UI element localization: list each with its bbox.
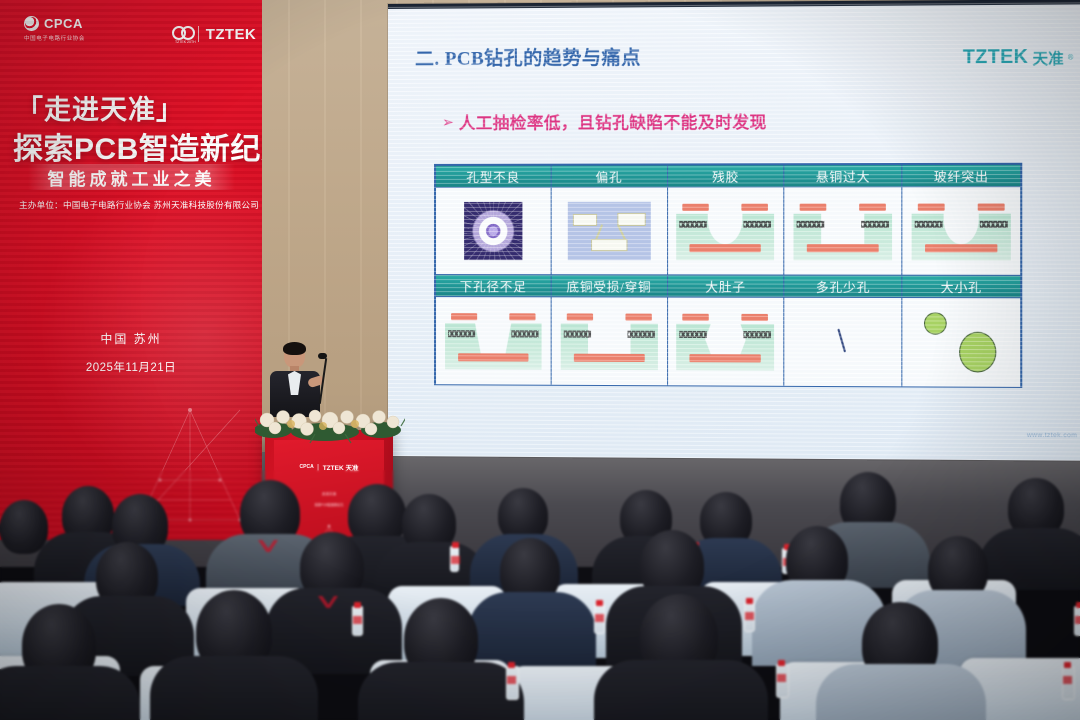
- table-row: [551, 297, 667, 385]
- xsection-damaged-base-copper-figure: [560, 312, 657, 371]
- water-bottle: [594, 604, 605, 634]
- table-header-cell: 底铜受损/穿铜: [551, 275, 667, 297]
- table-row: [902, 187, 1021, 276]
- table-figure-row-2: [436, 297, 1021, 387]
- speaker-hair: [283, 342, 306, 355]
- cpca-association-name: 中国电子电路行业协会: [24, 34, 85, 42]
- table-header-row-2: 下孔径不足 底铜受损/穿铜 大肚子 多孔少孔 大小孔: [436, 275, 1021, 298]
- table-row: [436, 297, 551, 385]
- table-row: [784, 187, 902, 275]
- xsection-residual-glue-figure: [677, 202, 775, 261]
- table-row: [551, 187, 667, 275]
- cpca-mark-icon: [24, 16, 39, 31]
- table-header-row-1: 孔型不良 偏孔 残胶 悬铜过大 玻纤突出: [436, 164, 1021, 187]
- presentation-screen: 二. PCB钻孔的趋势与痛点 TZTEK 天准 ® ➢ 人工抽检率低，且钻孔缺陷…: [388, 0, 1080, 461]
- table-figure-row-1: [436, 187, 1021, 276]
- xsection-big-belly-figure: [677, 312, 775, 371]
- audience-shoulders: [358, 662, 524, 720]
- table-row: [436, 187, 551, 274]
- water-bottle: [450, 546, 459, 572]
- table-row: [667, 187, 784, 275]
- table-header-cell: 下孔径不足: [436, 275, 551, 297]
- table-header-cell: 大肚子: [667, 275, 784, 297]
- water-bottle: [776, 664, 789, 698]
- table-header-cell: 大小孔: [902, 275, 1021, 298]
- slide-bullet-line: ➢ 人工抽检率低，且钻孔缺陷不能及时发现: [442, 109, 767, 134]
- cpca-logo: CPCA: [24, 16, 83, 31]
- backdrop-logo-row: CPCA 中国电子电路行业协会 TZTEK 20TH TZTEK 天准: [0, 8, 262, 46]
- xsection-glass-fiber-figure: [912, 201, 1011, 260]
- xsection-overhang-copper-figure: [794, 202, 893, 261]
- backdrop-city: 中国 苏州: [0, 330, 262, 347]
- table-header-cell: 孔型不良: [436, 165, 551, 187]
- slide-website-url: www.tztek.com: [1027, 432, 1077, 439]
- backdrop-headline-3-bar: 智能成就工业之美: [28, 164, 235, 190]
- defect-types-table: 孔型不良 偏孔 残胶 悬铜过大 玻纤突出: [434, 163, 1022, 388]
- table-header-cell: 残胶: [667, 165, 784, 187]
- event-backdrop-banner: CPCA 中国电子电路行业协会 TZTEK 20TH TZTEK 天准 「走进天…: [0, 0, 262, 540]
- conference-photo-scene: CPCA 中国电子电路行业协会 TZTEK 20TH TZTEK 天准 「走进天…: [0, 0, 1080, 720]
- podium-flower-arrangement: [255, 396, 405, 444]
- table-row: [902, 298, 1021, 387]
- backdrop-organizer-line: 主办单位：中国电子电路行业协会 苏州天准科技股份有限公司: [16, 199, 262, 211]
- offset-hole-layout-figure: [567, 202, 650, 260]
- backdrop-headline-1: 「走进天准」: [16, 88, 256, 127]
- cpca-logo-text: CPCA: [44, 16, 83, 31]
- audience-shoulders: [594, 660, 768, 720]
- table-row: [784, 297, 902, 386]
- audience-shoulders: [816, 664, 986, 720]
- table-header-cell: 偏孔: [551, 165, 667, 187]
- backdrop-headline-2: 探索PCB智造新纪元: [13, 124, 262, 168]
- audience-shoulders: [0, 666, 140, 720]
- tztek-wordmark: TZTEK: [206, 26, 256, 43]
- table-header-cell: 多孔少孔: [784, 275, 902, 297]
- slide-brand-cn: 天准: [1032, 47, 1063, 69]
- xsection-undersize-hole-figure: [445, 311, 542, 370]
- table-header-cell: 玻纤突出: [902, 164, 1021, 187]
- micrograph-hole-figure: [464, 202, 522, 260]
- slide-title: 二. PCB钻孔的趋势与痛点: [415, 43, 641, 71]
- anniversary-20-icon: TZTEK 20TH: [172, 25, 191, 43]
- water-bottle: [1074, 606, 1080, 636]
- registered-mark-icon: ®: [1068, 54, 1073, 61]
- water-bottle: [352, 606, 363, 636]
- backdrop-headline-3: 智能成就工业之美: [48, 165, 216, 190]
- water-bottle: [744, 602, 755, 632]
- bullet-arrow-icon: ➢: [442, 115, 454, 129]
- audience-shoulders: [150, 656, 318, 720]
- missing-extra-hole-mark-figure: [837, 329, 849, 355]
- slide-tztek-logo: TZTEK 天准 ®: [963, 46, 1073, 69]
- slide-bullet-text: 人工抽检率低，且钻孔缺陷不能及时发现: [459, 109, 767, 134]
- backdrop-date: 2025年11月21日: [0, 359, 262, 375]
- water-bottle: [1062, 666, 1075, 700]
- tztek-logo-block: TZTEK 20TH TZTEK 天准: [172, 17, 262, 51]
- water-bottle: [506, 666, 519, 700]
- anniversary-sub-label: TZTEK 20TH: [175, 40, 196, 44]
- table-row: [667, 297, 784, 385]
- audience-head: [0, 500, 48, 554]
- slide-brand-name: TZTEK: [963, 47, 1028, 70]
- large-small-hole-circles-figure: [922, 311, 1001, 374]
- audience-section: [0, 470, 1080, 720]
- table-header-cell: 悬铜过大: [784, 165, 902, 187]
- logo-divider: [198, 26, 199, 42]
